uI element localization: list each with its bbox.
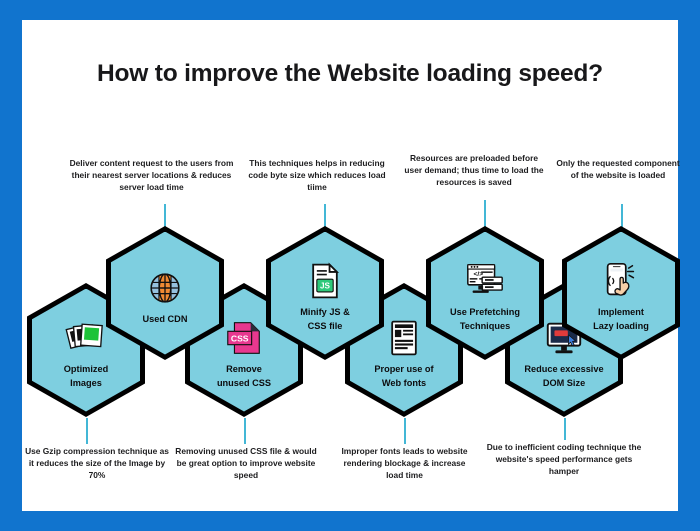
hex-label-used-cdn: Used CDN: [117, 313, 213, 327]
hex-label-prefetching: Use Prefetching Techniques: [437, 306, 533, 334]
note-prefetching: Resources are preloaded before user dema…: [400, 153, 548, 189]
infographic-canvas: How to improve the Website loading speed…: [22, 20, 678, 511]
hex-label-line1: Use Prefetching: [450, 307, 520, 317]
hex-label-web-fonts: Proper use of Web fonts: [356, 363, 452, 391]
globe-icon: [143, 266, 187, 310]
svg-text:CSS: CSS: [231, 333, 249, 343]
note-remove-unused-css: Removing unused CSS file & would be grea…: [172, 446, 320, 482]
hex-label-line1: Used CDN: [143, 314, 188, 324]
hex-inner: </> Use Prefetching T: [431, 232, 539, 355]
note-minify-js-css: This techniques helps in reducing code b…: [247, 158, 387, 194]
svg-text:JS: JS: [320, 281, 331, 290]
connector-used-cdn: [164, 204, 166, 228]
document-text-icon: [382, 316, 426, 360]
note-used-cdn: Deliver content request to the users fro…: [64, 158, 239, 194]
note-web-fonts: Improper fonts leads to website renderin…: [337, 446, 472, 482]
note-dom-size: Due to inefficient coding technique the …: [484, 442, 644, 478]
note-optimized-images: Use Gzip compression technique as it red…: [22, 446, 172, 482]
hex-label-line2: Web fonts: [382, 378, 426, 388]
page-title: How to improve the Website loading speed…: [22, 60, 678, 88]
hex-label-line1: Reduce excessive: [524, 364, 603, 374]
connector-prefetching: [484, 200, 486, 228]
hex-inner: Used CDN: [111, 232, 219, 355]
hex-label-line1: Optimized: [64, 364, 108, 374]
hex-label-line2: DOM Size: [543, 378, 585, 388]
js-file-icon: JS: [303, 259, 347, 303]
connector-optimized-images: [86, 418, 88, 444]
browser-code-icon: </>: [463, 259, 507, 303]
infographic-page: How to improve the Website loading speed…: [0, 0, 700, 531]
hex-label-line1: Remove: [226, 364, 262, 374]
connector-dom-size: [564, 418, 566, 440]
hex-label-line1: Proper use of: [374, 364, 433, 374]
hex-label-lazy-loading: Implement Lazy loading: [573, 306, 669, 334]
hex-label-line2: Images: [70, 378, 102, 388]
hex-inner: JS Minify JS & CSS file: [271, 232, 379, 355]
hex-label-line1: Implement: [598, 307, 644, 317]
phone-touch-icon: [599, 259, 643, 303]
hex-label-line2: unused CSS: [217, 378, 271, 388]
hex-label-dom-size: Reduce excessive DOM Size: [516, 363, 612, 391]
hex-label-line2: CSS file: [308, 321, 343, 331]
connector-web-fonts: [404, 418, 406, 444]
hex-label-line2: Techniques: [460, 321, 510, 331]
hex-label-optimized-images: Optimized Images: [38, 363, 134, 391]
hex-label-remove-unused-css: Remove unused CSS: [196, 363, 292, 391]
connector-remove-unused-css: [244, 418, 246, 444]
photos-icon: [64, 316, 108, 360]
hex-label-line1: Minify JS &: [300, 307, 350, 317]
css-file-icon: CSS: [222, 316, 266, 360]
note-lazy-loading: Only the requested component of the webs…: [552, 158, 684, 182]
connector-lazy-loading: [621, 204, 623, 228]
hex-inner: Implement Lazy loading: [567, 232, 675, 355]
hex-label-minify-js-css: Minify JS & CSS file: [277, 306, 373, 334]
hex-label-line2: Lazy loading: [593, 321, 649, 331]
connector-minify-js-css: [324, 204, 326, 228]
